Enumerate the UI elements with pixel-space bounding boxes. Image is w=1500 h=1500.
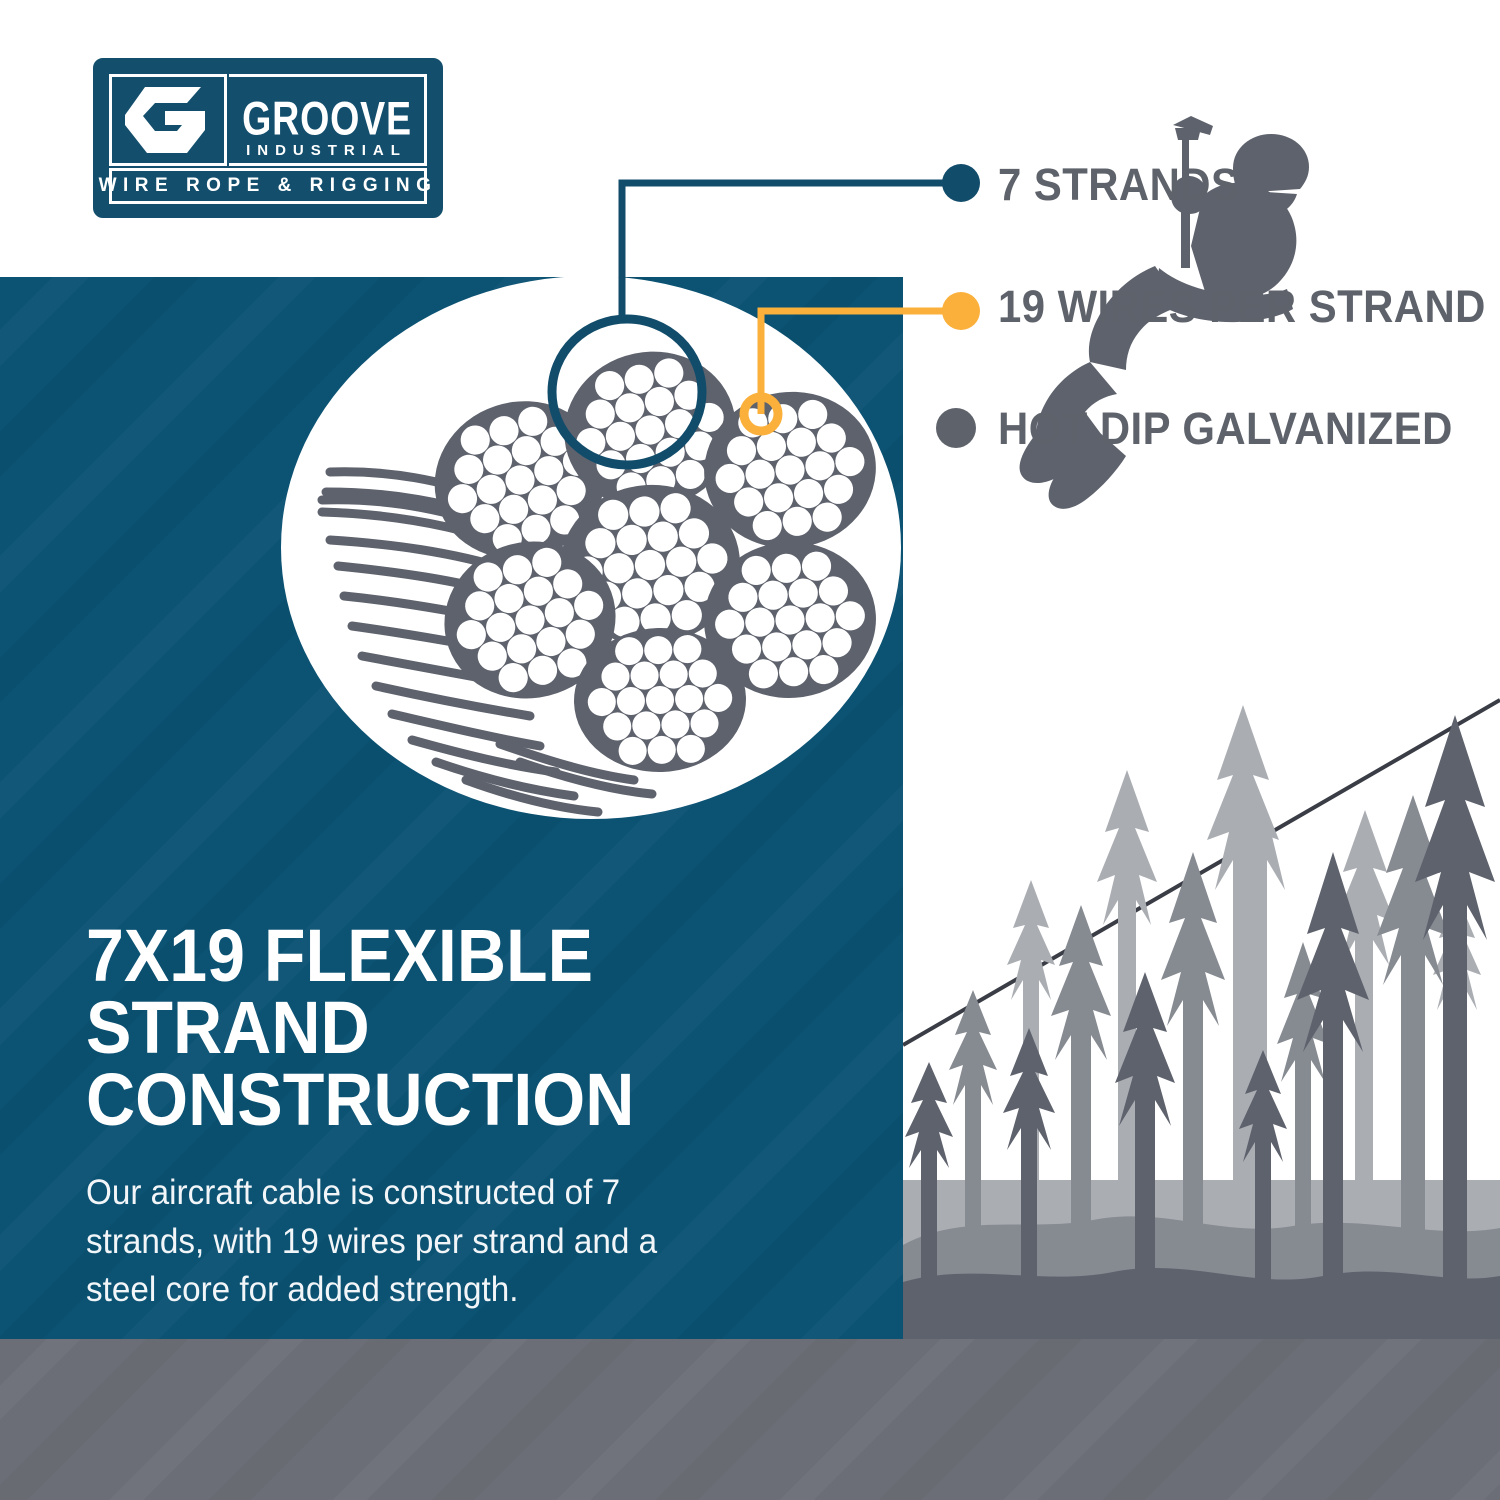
callout-label: HOT DIP GALVANIZED: [998, 406, 1487, 451]
logo-tagline: WIRE ROPE & RIGGING: [99, 175, 438, 197]
logo-subname: INDUSTRIAL: [246, 142, 407, 159]
callout-list: 7 STRANDS 19 WIRES PER STRAND HOT DIP GA…: [936, 150, 1476, 459]
footer-band: [0, 1339, 1500, 1500]
logo-tagline-box: WIRE ROPE & RIGGING: [109, 168, 427, 204]
callout-item-wires[interactable]: 19 WIRES PER STRAND: [936, 275, 1476, 337]
description-line-3: steel core for added strength.: [86, 1266, 837, 1314]
title-line-2: STRAND CONSTRUCTION: [86, 992, 813, 1136]
logo-frame: GROOVE INDUSTRIAL WIRE ROPE & RIGGING: [93, 58, 443, 218]
groove-g-icon: [125, 87, 211, 153]
title-line-1: 7X19 FLEXIBLE: [86, 920, 813, 992]
logo-mark-box: [109, 74, 227, 166]
logo-wordmark-text: GROOVE: [242, 95, 412, 142]
footer-wave-texture: [0, 1339, 1500, 1500]
logo-wordmark: GROOVE: [220, 95, 432, 142]
description-line-1: Our aircraft cable is constructed of 7: [86, 1169, 837, 1217]
callout-item-galvanized[interactable]: HOT DIP GALVANIZED: [936, 397, 1476, 459]
brand-logo[interactable]: GROOVE INDUSTRIAL WIRE ROPE & RIGGING: [93, 58, 443, 218]
headline-block: 7X19 FLEXIBLE STRAND CONSTRUCTION Our ai…: [86, 920, 876, 1314]
description-text: Our aircraft cable is constructed of 7 s…: [86, 1169, 876, 1314]
callout-dot-icon: [936, 408, 976, 448]
description-line-2: strands, with 19 wires per strand and a: [86, 1218, 837, 1266]
logo-wordmark-box: GROOVE INDUSTRIAL: [229, 74, 427, 166]
callout-item-strands[interactable]: 7 STRANDS: [936, 153, 1476, 215]
infographic-canvas: GROOVE INDUSTRIAL WIRE ROPE & RIGGING: [0, 0, 1500, 1500]
callout-label: 19 WIRES PER STRAND: [998, 284, 1500, 329]
page-title: 7X19 FLEXIBLE STRAND CONSTRUCTION: [86, 920, 876, 1135]
callout-label: 7 STRANDS: [998, 162, 1258, 207]
illustration-disc: [281, 276, 901, 819]
